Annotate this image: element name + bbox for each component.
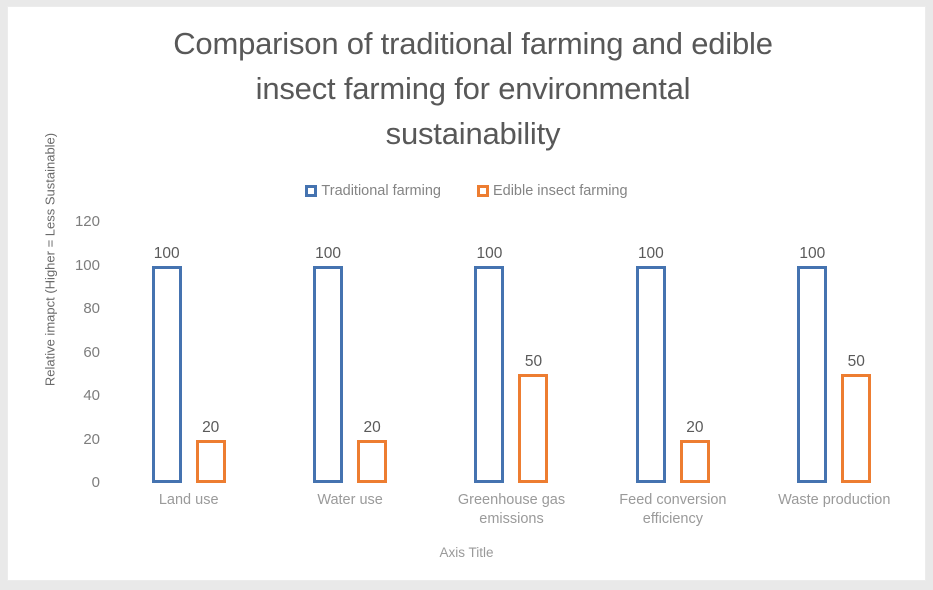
- bar-group: 10050: [431, 222, 592, 483]
- bar-edible-insect-farming[interactable]: 50: [518, 374, 548, 483]
- bar-data-label: 100: [298, 246, 358, 262]
- bar-traditional-farming[interactable]: 100: [313, 266, 343, 484]
- bar-rect[interactable]: [196, 440, 226, 484]
- legend-swatch-icon-traditional-farming: [305, 185, 317, 197]
- x-axis-category-label: Water use: [284, 491, 416, 510]
- bar-data-label: 100: [137, 246, 197, 262]
- bar-rect[interactable]: [636, 266, 666, 484]
- bar-data-label: 20: [181, 420, 241, 436]
- chart-title-line-3: sustainability: [78, 111, 868, 156]
- bar-group: 10050: [754, 222, 915, 483]
- bar-rect[interactable]: [474, 266, 504, 484]
- bar-edible-insect-farming[interactable]: 50: [841, 374, 871, 483]
- legend-entry-edible-insect-farming[interactable]: Edible insect farming: [477, 183, 628, 199]
- y-axis-title: Relative imapct (Higher = Less Sustainab…: [43, 90, 58, 430]
- legend-swatch-icon-edible-insect-farming: [477, 185, 489, 197]
- plot-area: 1002010020100501002010050: [108, 222, 915, 483]
- bar-edible-insect-farming[interactable]: 20: [680, 440, 710, 484]
- bar-rect[interactable]: [680, 440, 710, 484]
- bar-data-label: 20: [665, 420, 725, 436]
- chart-title-line-1: Comparison of traditional farming and ed…: [78, 21, 868, 66]
- chart-canvas: Comparison of traditional farming and ed…: [8, 7, 925, 580]
- bar-rect[interactable]: [518, 374, 548, 483]
- bar-group: 10020: [592, 222, 753, 483]
- chart-title-line-2: insect farming for environmental: [78, 66, 868, 111]
- y-axis-tick-0: 0: [60, 475, 100, 490]
- bar-data-label: 100: [459, 246, 519, 262]
- x-axis-category-label: Feed conversionefficiency: [607, 491, 739, 529]
- bar-rect[interactable]: [797, 266, 827, 484]
- x-axis-category-label-line: emissions: [446, 510, 578, 529]
- legend-label-edible-insect-farming: Edible insect farming: [493, 183, 628, 199]
- bar-data-label: 20: [342, 420, 402, 436]
- bar-traditional-farming[interactable]: 100: [797, 266, 827, 484]
- x-axis-category-label-line: Greenhouse gas: [446, 491, 578, 510]
- bar-data-label: 50: [826, 354, 886, 370]
- x-axis-category-label-line: Waste production: [768, 491, 900, 510]
- bar-data-label: 50: [503, 354, 563, 370]
- x-axis-category-label-line: Land use: [123, 491, 255, 510]
- x-axis-category-label-line: efficiency: [607, 510, 739, 529]
- bar-data-label: 100: [782, 246, 842, 262]
- chart-screenshot: Comparison of traditional farming and ed…: [0, 0, 933, 590]
- bar-group: 10020: [269, 222, 430, 483]
- chart-title: Comparison of traditional farming and ed…: [78, 21, 868, 156]
- legend-label-traditional-farming: Traditional farming: [321, 183, 441, 199]
- y-axis-tick-120: 120: [60, 214, 100, 229]
- y-axis-tick-80: 80: [60, 301, 100, 316]
- bar-traditional-farming[interactable]: 100: [636, 266, 666, 484]
- chart-legend: Traditional farming Edible insect farmin…: [8, 183, 925, 199]
- bar-traditional-farming[interactable]: 100: [152, 266, 182, 484]
- bar-rect[interactable]: [152, 266, 182, 484]
- bar-edible-insect-farming[interactable]: 20: [357, 440, 387, 484]
- bar-edible-insect-farming[interactable]: 20: [196, 440, 226, 484]
- x-axis-title: Axis Title: [8, 545, 925, 560]
- x-axis-category-label-line: Feed conversion: [607, 491, 739, 510]
- bar-group: 10020: [108, 222, 269, 483]
- y-axis-tick-40: 40: [60, 388, 100, 403]
- y-axis-tick-100: 100: [60, 258, 100, 273]
- bar-rect[interactable]: [841, 374, 871, 483]
- x-axis-category-label: Greenhouse gasemissions: [446, 491, 578, 529]
- legend-entry-traditional-farming[interactable]: Traditional farming: [305, 183, 441, 199]
- x-axis-category-label: Land use: [123, 491, 255, 510]
- x-axis-category-label-line: Water use: [284, 491, 416, 510]
- x-axis-category-label: Waste production: [768, 491, 900, 510]
- y-axis-tick-20: 20: [60, 432, 100, 447]
- bar-data-label: 100: [621, 246, 681, 262]
- bar-rect[interactable]: [313, 266, 343, 484]
- y-axis-tick-60: 60: [60, 345, 100, 360]
- bar-rect[interactable]: [357, 440, 387, 484]
- bar-traditional-farming[interactable]: 100: [474, 266, 504, 484]
